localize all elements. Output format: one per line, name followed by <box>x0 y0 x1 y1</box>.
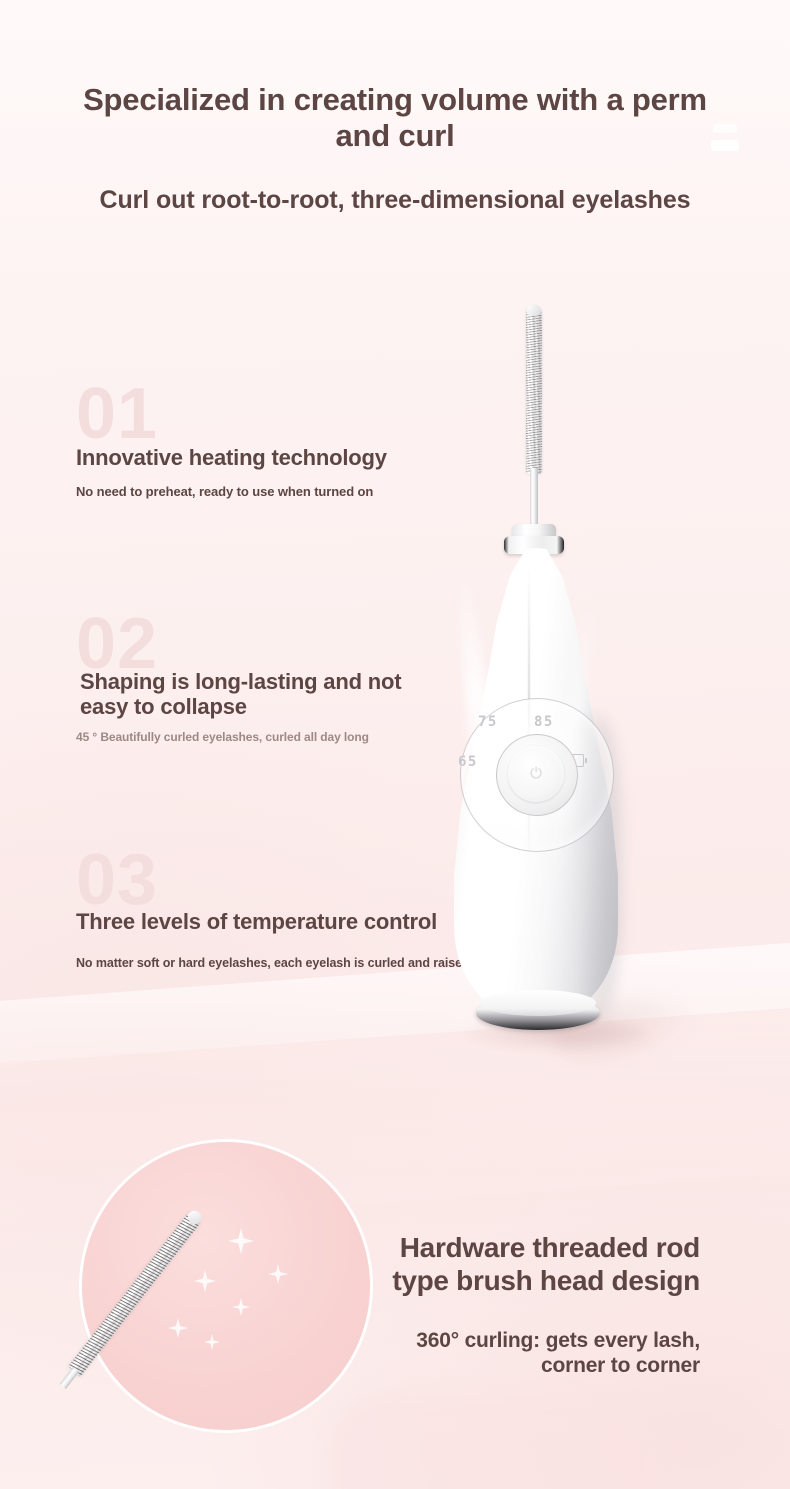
bottom-subtitle: 360° curling: gets every lash, corner to… <box>370 1328 700 1378</box>
brush-shaft <box>530 468 538 530</box>
page-subtitle: Curl out root-to-root, three-dimensional… <box>0 186 790 215</box>
product-feature-poster: Specialized in creating volume with a pe… <box>0 0 790 1489</box>
background-blob <box>330 1395 660 1489</box>
sparkle-icon <box>204 1334 220 1350</box>
brush-rod-stem <box>60 1367 80 1389</box>
threaded-brush-rod <box>524 306 544 476</box>
brush-head-closeup <box>82 1142 370 1430</box>
sparkle-icon <box>268 1264 288 1284</box>
bottom-copy-block: Hardware threaded rod type brush head de… <box>370 1232 700 1378</box>
sparkle-icon <box>168 1318 188 1338</box>
temperature-label-85: 85 <box>534 714 554 730</box>
feature-number: 03 <box>76 844 158 916</box>
decorative-dash-icon <box>713 124 737 133</box>
rod-threading <box>526 307 542 473</box>
sparkle-icon <box>232 1298 250 1316</box>
device-base-face <box>480 990 596 1016</box>
decorative-dash-icon <box>711 140 739 151</box>
sparkle-icon <box>228 1228 254 1254</box>
temperature-label-65: 65 <box>458 754 478 770</box>
bottom-title: Hardware threaded rod type brush head de… <box>370 1232 700 1298</box>
rod-tip <box>527 304 541 316</box>
page-title: Specialized in creating volume with a pe… <box>65 82 725 154</box>
power-icon: ⏻ <box>528 765 544 783</box>
temperature-label-75: 75 <box>478 714 498 730</box>
headline-block: Specialized in creating volume with a pe… <box>0 82 790 154</box>
product-image-eyelash-curler: 65 75 85 ⚡ ⏻ <box>432 296 662 1086</box>
feature-title: Shaping is long-lasting and not easy to … <box>80 670 430 719</box>
sparkle-icon <box>194 1270 216 1292</box>
feature-number: 01 <box>76 378 158 450</box>
